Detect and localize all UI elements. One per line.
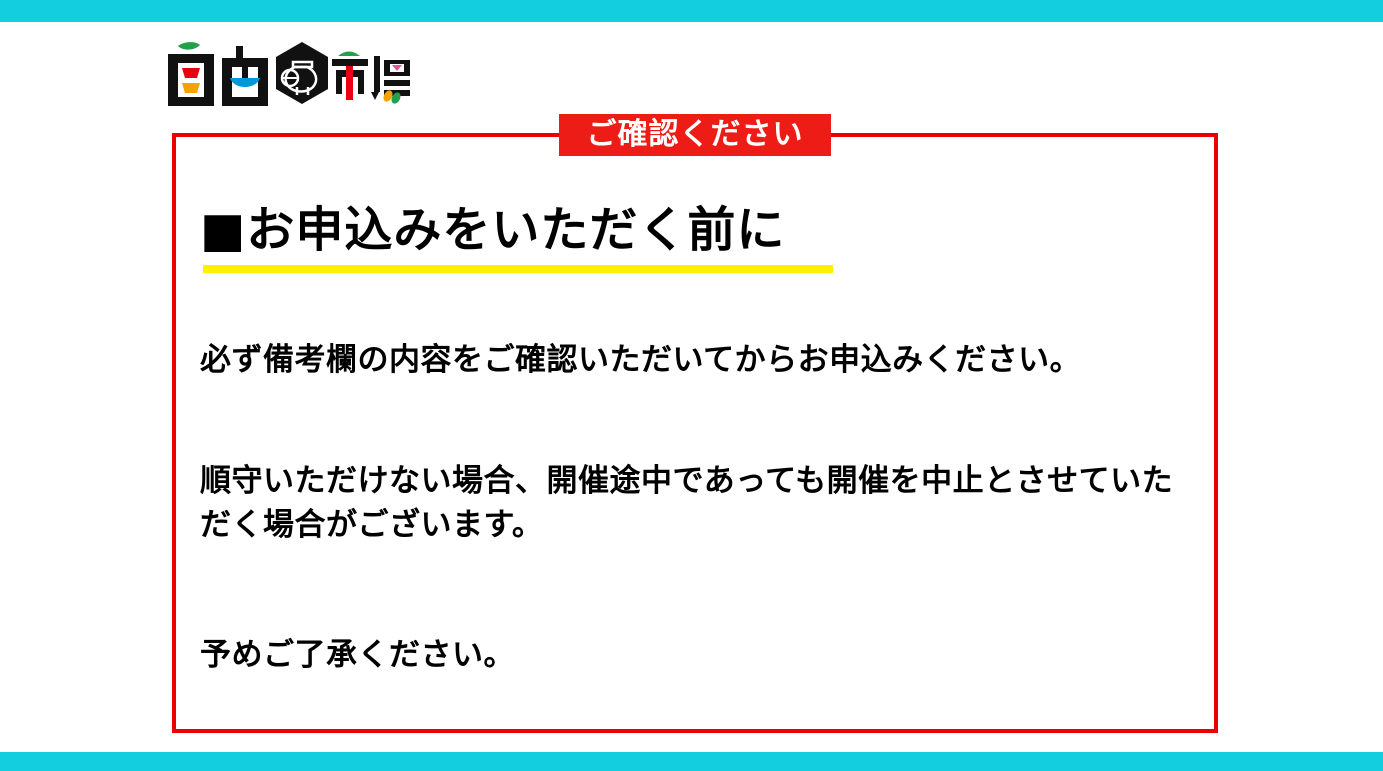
section-heading: ■お申込みをいただく前に: [200, 200, 840, 264]
logo-glyph-ba: [371, 56, 410, 105]
notice-paragraph-1: 必ず備考欄の内容をご確認いただいてからお申込みください。: [200, 338, 1190, 382]
logo-glyph-yu: [222, 46, 268, 106]
logo-glyph-hexagon-pot: [276, 42, 328, 104]
top-accent-bar: [0, 0, 1383, 22]
logo-glyph-shiro: [168, 42, 214, 106]
notice-content: ■お申込みをいただく前に 必ず備考欄の内容をご確認いただいてからお申込みください…: [200, 200, 1190, 677]
notice-paragraph-3: 予めご了承ください。: [200, 633, 1190, 677]
bottom-accent-bar: [0, 752, 1383, 771]
heading-underline-highlight: [203, 265, 833, 273]
brand-logo: [166, 38, 428, 110]
slide-page: ご確認ください ■お申込みをいただく前に 必ず備考欄の内容をご確認いただいてから…: [0, 0, 1383, 771]
confirm-badge: ご確認ください: [559, 114, 831, 156]
section-heading-wrapper: ■お申込みをいただく前に: [200, 200, 840, 264]
notice-paragraph-2: 順守いただけない場合、開催途中であっても開催を中止とさせていただく場合がございま…: [200, 459, 1190, 547]
logo-glyph-ichi: [332, 52, 368, 101]
